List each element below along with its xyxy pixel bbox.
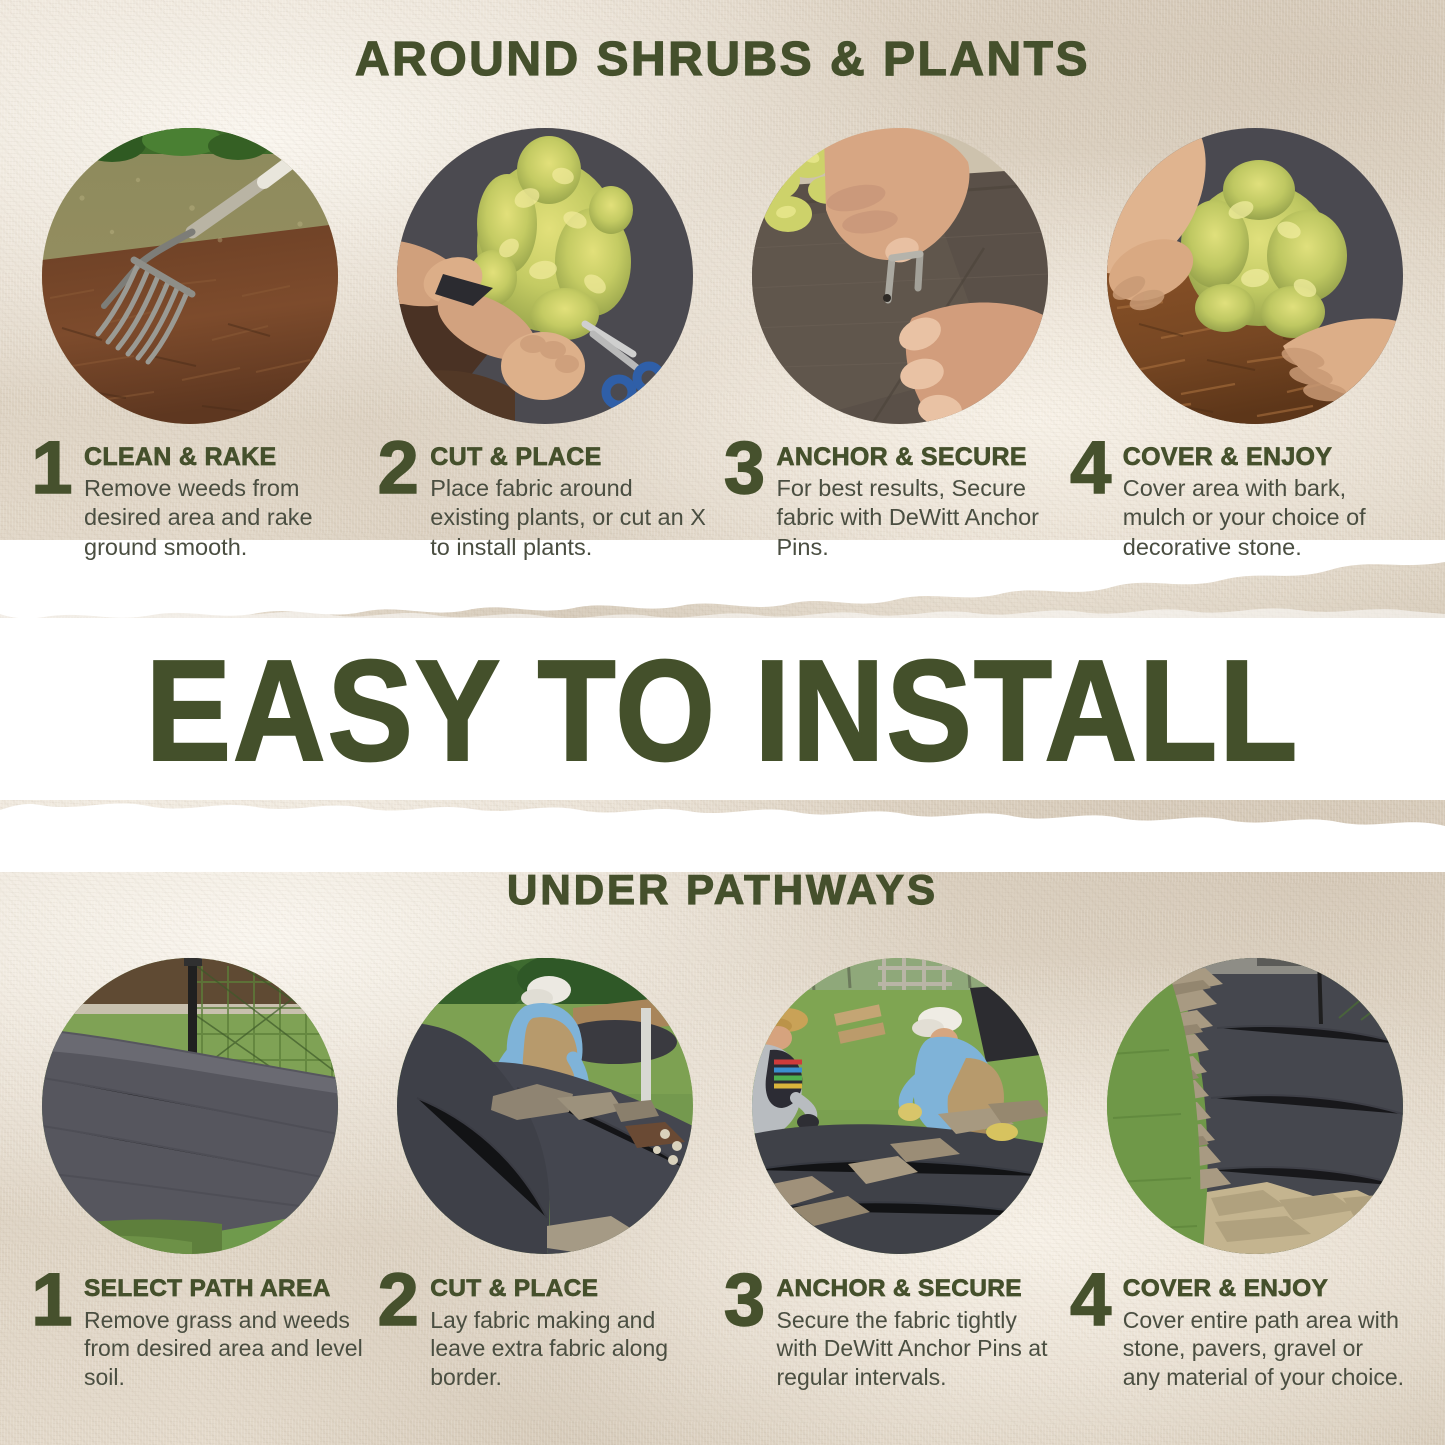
photo-worker-placing-stone bbox=[397, 958, 693, 1254]
step-description: Lay fabric making and leave extra fabric… bbox=[430, 1306, 712, 1392]
step-description: Remove grass and weeds from desired area… bbox=[84, 1306, 366, 1392]
step-number: 4 bbox=[1069, 1270, 1113, 1331]
infographic-poster: AROUND SHRUBS & PLANTS bbox=[0, 0, 1445, 1445]
step-item: 3 ANCHOR & SECURE Secure the fabric tigh… bbox=[723, 1274, 1069, 1391]
photo-anchor-pin bbox=[752, 128, 1048, 424]
step-number: 2 bbox=[376, 438, 420, 499]
step-number: 1 bbox=[30, 438, 74, 499]
step-number: 3 bbox=[723, 1270, 767, 1331]
step-heading: CUT & PLACE bbox=[430, 1276, 712, 1302]
step-body: COVER & ENJOY Cover entire path area wit… bbox=[1123, 1274, 1405, 1391]
steps-row-shrubs: 1 CLEAN & RAKE Remove weeds from desired… bbox=[0, 442, 1445, 562]
step-body: ANCHOR & SECURE For best results, Secure… bbox=[777, 442, 1059, 562]
step-description: Cover entire path area with stone, paver… bbox=[1123, 1306, 1405, 1392]
step-heading: CLEAN & RAKE bbox=[84, 444, 366, 470]
step-description: Secure the fabric tightly with DeWitt An… bbox=[777, 1306, 1059, 1392]
step-description: Place fabric around existing plants, or … bbox=[430, 474, 712, 561]
step-body: ANCHOR & SECURE Secure the fabric tightl… bbox=[777, 1274, 1059, 1391]
step-item: 1 CLEAN & RAKE Remove weeds from desired… bbox=[30, 442, 376, 562]
step-body: COVER & ENJOY Cover area with bark, mulc… bbox=[1123, 442, 1405, 562]
step-description: Cover area with bark, mulch or your choi… bbox=[1123, 474, 1405, 561]
step-heading: COVER & ENJOY bbox=[1123, 1276, 1405, 1302]
steps-row-pathways: 1 SELECT PATH AREA Remove grass and weed… bbox=[0, 1274, 1445, 1391]
step-description: Remove weeds from desired area and rake … bbox=[84, 474, 366, 561]
step-body: CUT & PLACE Place fabric around existing… bbox=[430, 442, 712, 562]
step-number: 3 bbox=[723, 438, 767, 499]
step-number: 2 bbox=[376, 1270, 420, 1331]
hero-title: EASY TO INSTALL bbox=[0, 640, 1445, 783]
step-item: 2 CUT & PLACE Place fabric around existi… bbox=[376, 442, 722, 562]
section-title-under-pathways: UNDER PATHWAYS bbox=[0, 866, 1445, 914]
step-body: SELECT PATH AREA Remove grass and weeds … bbox=[84, 1274, 366, 1391]
photo-row-shrubs bbox=[0, 128, 1445, 424]
photo-finished-path bbox=[1107, 958, 1403, 1254]
photo-rake-on-mulch bbox=[42, 128, 338, 424]
step-heading: ANCHOR & SECURE bbox=[777, 1276, 1059, 1302]
step-body: CLEAN & RAKE Remove weeds from desired a… bbox=[84, 442, 366, 562]
step-heading: COVER & ENJOY bbox=[1123, 444, 1405, 470]
step-item: 4 COVER & ENJOY Cover entire path area w… bbox=[1069, 1274, 1415, 1391]
step-heading: CUT & PLACE bbox=[430, 444, 712, 470]
step-item: 2 CUT & PLACE Lay fabric making and leav… bbox=[376, 1274, 722, 1391]
photo-fabric-around-shrub bbox=[397, 128, 693, 424]
step-heading: ANCHOR & SECURE bbox=[777, 444, 1059, 470]
step-number: 1 bbox=[30, 1270, 74, 1331]
step-item: 4 COVER & ENJOY Cover area with bark, mu… bbox=[1069, 442, 1415, 562]
step-number: 4 bbox=[1069, 438, 1113, 499]
photo-two-workers-path bbox=[752, 958, 1048, 1254]
step-heading: SELECT PATH AREA bbox=[84, 1276, 366, 1302]
section-title-around-shrubs-and-plants: AROUND SHRUBS & PLANTS bbox=[0, 32, 1445, 87]
step-body: CUT & PLACE Lay fabric making and leave … bbox=[430, 1274, 712, 1391]
step-description: For best results, Secure fabric with DeW… bbox=[777, 474, 1059, 561]
step-item: 1 SELECT PATH AREA Remove grass and weed… bbox=[30, 1274, 376, 1391]
photo-fabric-roll-by-fence bbox=[42, 958, 338, 1254]
step-item: 3 ANCHOR & SECURE For best results, Secu… bbox=[723, 442, 1069, 562]
photo-cover-with-mulch bbox=[1107, 128, 1403, 424]
photo-row-pathways bbox=[0, 958, 1445, 1254]
